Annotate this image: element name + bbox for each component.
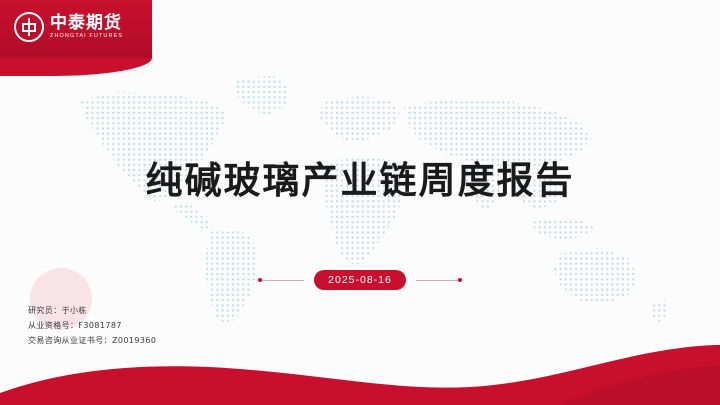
- circle-monogram-icon: [14, 12, 44, 42]
- date-row: 2025-08-16: [0, 270, 720, 290]
- date-badge: 2025-08-16: [314, 270, 406, 290]
- world-map-dots: [60, 70, 680, 340]
- qualification-number: 从业资格号：F3081787: [28, 319, 156, 334]
- logo-text-en: ZHONGTAI FUTURES: [50, 34, 123, 40]
- brand-banner: 中泰期货 ZHONGTAI FUTURES: [0, 0, 152, 58]
- logo-text-cn: 中泰期货: [50, 14, 123, 31]
- researcher-name: 研究员：于小栋: [28, 304, 156, 319]
- bottom-red-wave: [0, 335, 720, 405]
- company-logo: 中泰期货 ZHONGTAI FUTURES: [14, 12, 123, 42]
- page-title: 纯碱玻璃产业链周度报告: [0, 150, 720, 204]
- date-divider-left: [258, 280, 304, 281]
- date-divider-right: [416, 280, 462, 281]
- title-slide: 中泰期货 ZHONGTAI FUTURES 纯碱玻璃产业链周度报告 2025-0…: [0, 0, 720, 405]
